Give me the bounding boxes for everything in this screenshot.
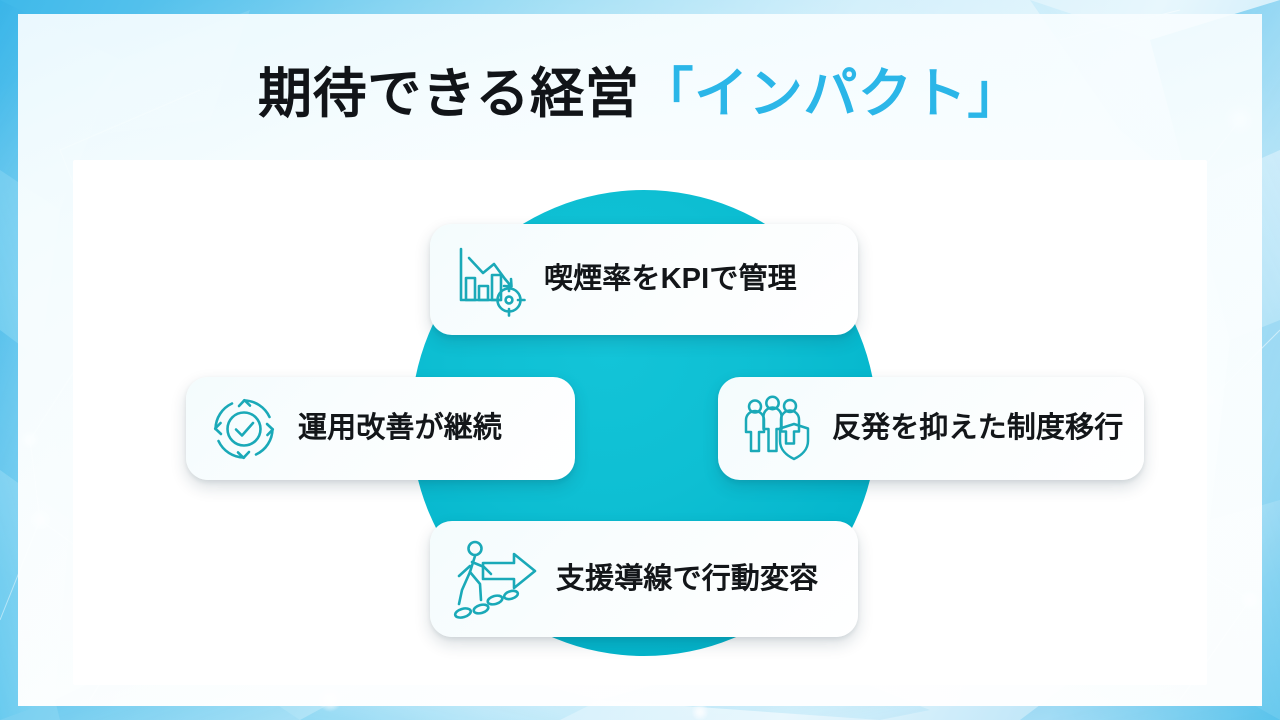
impact-card-operations[interactable]: 運用改善が継続: [186, 377, 575, 480]
impact-card-kpi-label: 喫煙率をKPIで管理: [544, 265, 797, 294]
impact-card-behavior[interactable]: 支援導線で行動変容: [430, 521, 858, 637]
impact-card-transition[interactable]: 反発を抑えた制度移行: [718, 377, 1144, 480]
page-title-accent: 「インパクト」: [639, 64, 1022, 124]
page-title: 期待できる経営「インパクト」: [0, 64, 1280, 124]
walking-person-arrow-footprints-icon: [450, 538, 546, 620]
page-title-main: 期待できる経営: [258, 64, 639, 124]
slide-canvas: 期待できる経営「インパクト」 喫煙率をKPIで管理: [0, 0, 1280, 720]
impact-card-operations-label: 運用改善が継続: [298, 414, 502, 443]
bar-chart-declining-target-icon: [452, 242, 530, 318]
cycle-check-icon: [208, 393, 280, 465]
impact-card-kpi[interactable]: 喫煙率をKPIで管理: [430, 224, 858, 335]
impact-card-transition-label: 反発を抑えた制度移行: [832, 414, 1123, 443]
people-shield-icon: [738, 393, 816, 465]
impact-card-behavior-label: 支援導線で行動変容: [556, 565, 818, 594]
